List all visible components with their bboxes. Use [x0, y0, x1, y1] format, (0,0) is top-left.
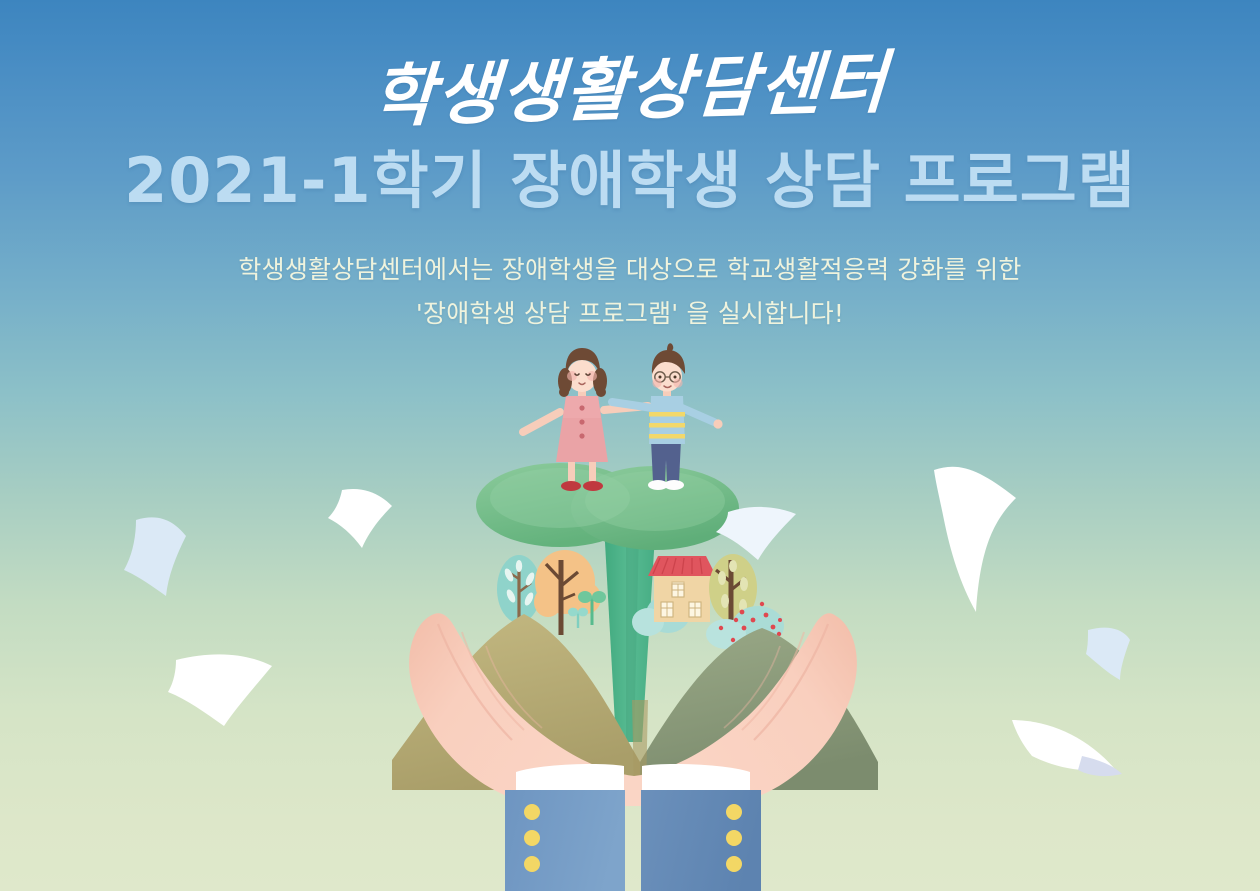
sleeve-button: [524, 804, 540, 820]
page-title: 2021-1학기 장애학생 상담 프로그램: [0, 148, 1260, 214]
child-boy: [612, 343, 723, 490]
paper-sheet: [328, 489, 392, 548]
paper-sheet: [1086, 628, 1130, 680]
paper-sheet: [934, 467, 1016, 612]
sleeve-left: [505, 764, 625, 891]
sleeve-button: [524, 856, 540, 872]
sleeve-button: [726, 830, 742, 846]
poster-canvas: 학생생활상담센터 2021-1학기 장애학생 상담 프로그램 학생생활상담센터에…: [0, 0, 1260, 891]
house: [648, 556, 716, 622]
sleeve-right: [641, 764, 761, 891]
tree-canopy: [476, 463, 739, 550]
paper-sheet: [124, 517, 186, 596]
lead-line-2: '장애학생 상담 프로그램' 을 실시합니다!: [130, 292, 1130, 337]
lead-paragraph: 학생생활상담센터에서는 장애학생을 대상으로 학교생활적응력 강화를 위한 '장…: [130, 248, 1130, 337]
paper-sheet: [716, 507, 796, 560]
paper-sheet: [168, 654, 272, 726]
sleeve-button: [726, 804, 742, 820]
sleeve-button: [524, 830, 540, 846]
script-title: 학생생활상담센터: [0, 38, 1260, 141]
sleeve-button: [726, 856, 742, 872]
lead-line-1: 학생생활상담센터에서는 장애학생을 대상으로 학교생활적응력 강화를 위한: [130, 248, 1130, 293]
text-block: 학생생활상담센터 2021-1학기 장애학생 상담 프로그램 학생생활상담센터에…: [0, 0, 1260, 337]
